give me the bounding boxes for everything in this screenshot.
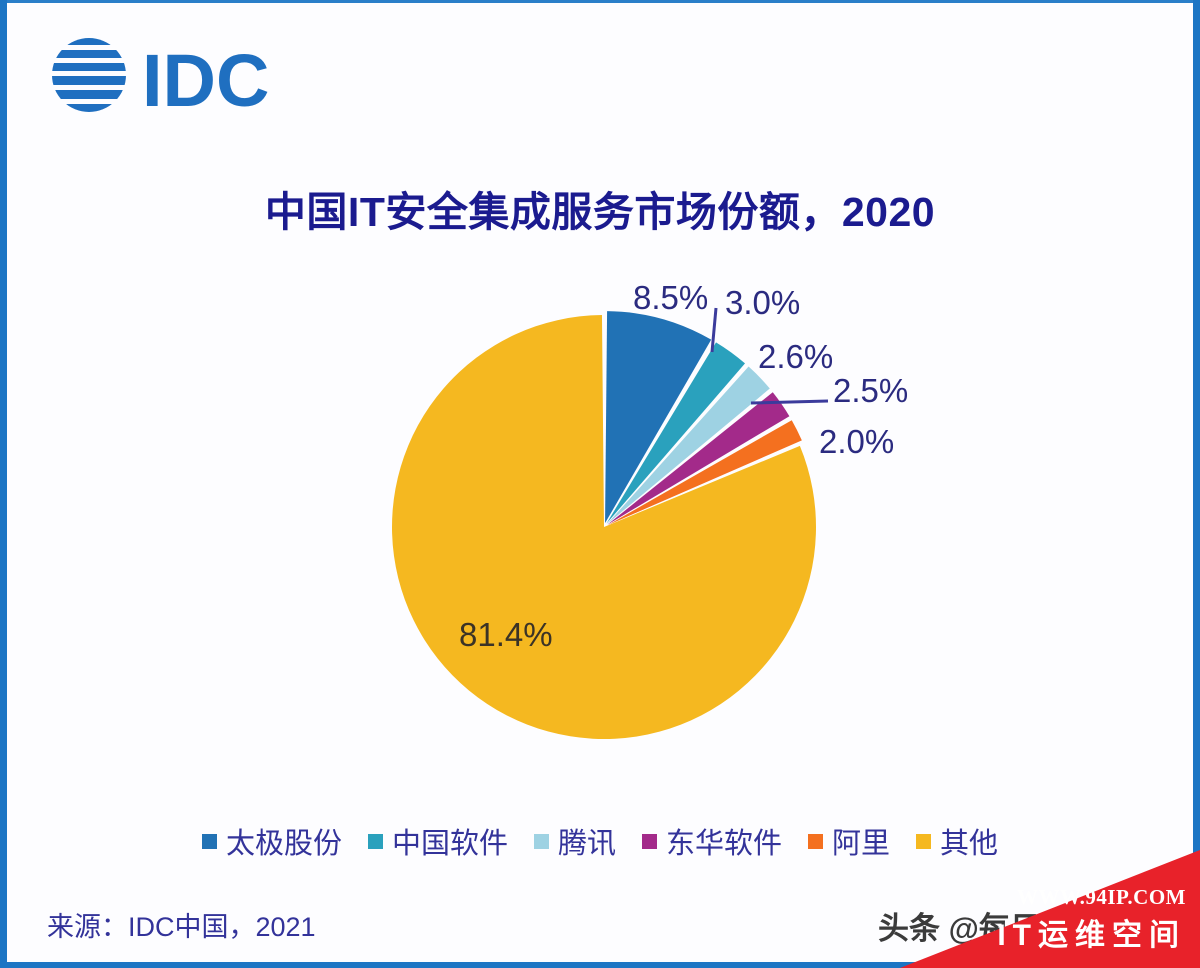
- idc-logo-text: IDC: [142, 39, 269, 120]
- legend-swatch-icon: [534, 834, 549, 849]
- chart-title: 中国IT安全集成服务市场份额，2020: [0, 178, 1200, 238]
- legend-swatch-icon: [642, 834, 657, 849]
- legend-label: 东华软件: [666, 820, 782, 862]
- source-note: 来源：IDC中国，2021: [47, 905, 316, 944]
- data-label-alibaba: 2.0%: [819, 423, 894, 461]
- legend-item-0[interactable]: 太极股份: [202, 820, 342, 862]
- legend-item-1[interactable]: 中国软件: [368, 820, 508, 862]
- pie-slices: [392, 311, 816, 739]
- frame-top-border: [0, 0, 1200, 3]
- data-label-others: 81.4%: [459, 616, 553, 654]
- chart-legend: 太极股份中国软件腾讯东华软件阿里其他: [0, 820, 1200, 862]
- legend-swatch-icon: [368, 834, 383, 849]
- legend-label: 腾讯: [558, 820, 616, 862]
- data-label-dhsoft: 2.5%: [833, 372, 908, 410]
- watermark-toutiao: 头条 @每日: [878, 903, 1041, 948]
- legend-swatch-icon: [808, 834, 823, 849]
- slide-canvas: IDC 中国IT安全集成服务市场份额，2020 8.5% 3.0% 2.6% 2…: [0, 0, 1200, 968]
- watermark-url: WWW.94IP.COM: [1017, 885, 1186, 910]
- frame-bottom-border: [0, 962, 1200, 968]
- legend-swatch-icon: [916, 834, 931, 849]
- pie-chart-svg: [300, 260, 940, 800]
- data-label-cec: 3.0%: [725, 284, 800, 322]
- legend-item-2[interactable]: 腾讯: [534, 820, 616, 862]
- idc-logo-svg: IDC: [46, 30, 306, 120]
- idc-logo: IDC: [46, 30, 306, 120]
- legend-item-3[interactable]: 东华软件: [642, 820, 782, 862]
- legend-label: 其他: [940, 820, 998, 862]
- legend-item-4[interactable]: 阿里: [808, 820, 890, 862]
- legend-item-5[interactable]: 其他: [916, 820, 998, 862]
- leader-line-dhsoft: [751, 401, 828, 403]
- data-label-taiji: 8.5%: [633, 279, 708, 317]
- data-label-tencent: 2.6%: [758, 338, 833, 376]
- legend-label: 阿里: [832, 820, 890, 862]
- pie-chart: 8.5% 3.0% 2.6% 2.5% 2.0% 81.4%: [300, 260, 940, 800]
- legend-label: 中国软件: [392, 820, 508, 862]
- legend-label: 太极股份: [226, 820, 342, 862]
- legend-swatch-icon: [202, 834, 217, 849]
- idc-globe-icon: [46, 38, 144, 112]
